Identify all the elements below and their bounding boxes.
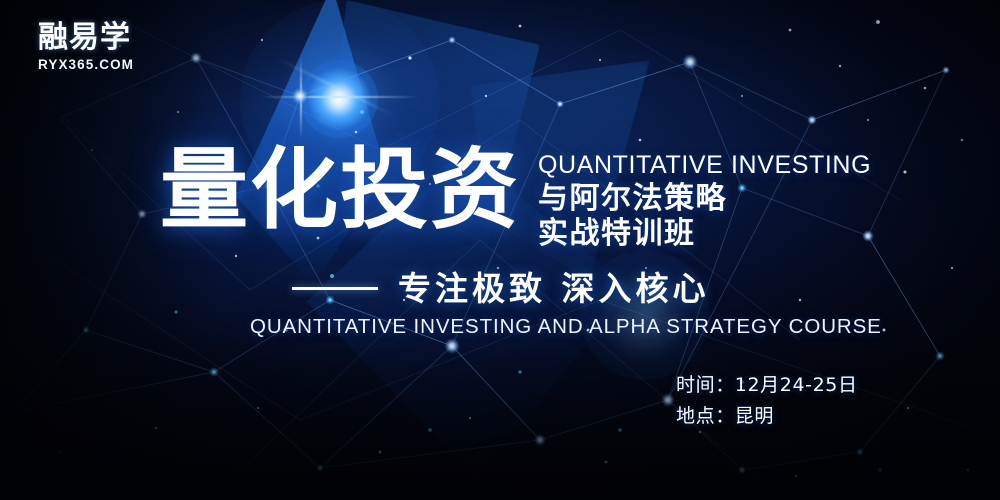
- slogan-text: 专注极致 深入核心: [398, 272, 710, 305]
- slogan-rule-icon: [292, 287, 378, 290]
- subtitle-english: QUANTITATIVE INVESTING AND ALPHA STRATEG…: [250, 315, 882, 339]
- secondary-title-chinese-line1: 与阿尔法策略: [538, 182, 871, 217]
- brand-logo[interactable]: 融易学 RYX365.COM: [38, 22, 156, 72]
- slogan-block: 专注极致 深入核心: [292, 272, 710, 305]
- headline-title: 量化投资: [160, 146, 520, 234]
- event-time: 时间：12月24-25日: [676, 370, 858, 401]
- secondary-title-block: QUANTITATIVE INVESTING 与阿尔法策略 实战特训班: [538, 152, 871, 252]
- event-banner: 融易学 RYX365.COM 量化投资 QUANTITATIVE INVESTI…: [0, 0, 1000, 500]
- brand-logo-domain: RYX365.COM: [38, 57, 156, 72]
- secondary-title-chinese-line2: 实战特训班: [538, 217, 871, 252]
- secondary-title-english: QUANTITATIVE INVESTING: [538, 152, 871, 179]
- brand-logo-mark: 融易学: [38, 22, 156, 54]
- event-info-block: 时间：12月24-25日 地点：昆明: [676, 370, 858, 432]
- event-location: 地点：昆明: [676, 401, 858, 432]
